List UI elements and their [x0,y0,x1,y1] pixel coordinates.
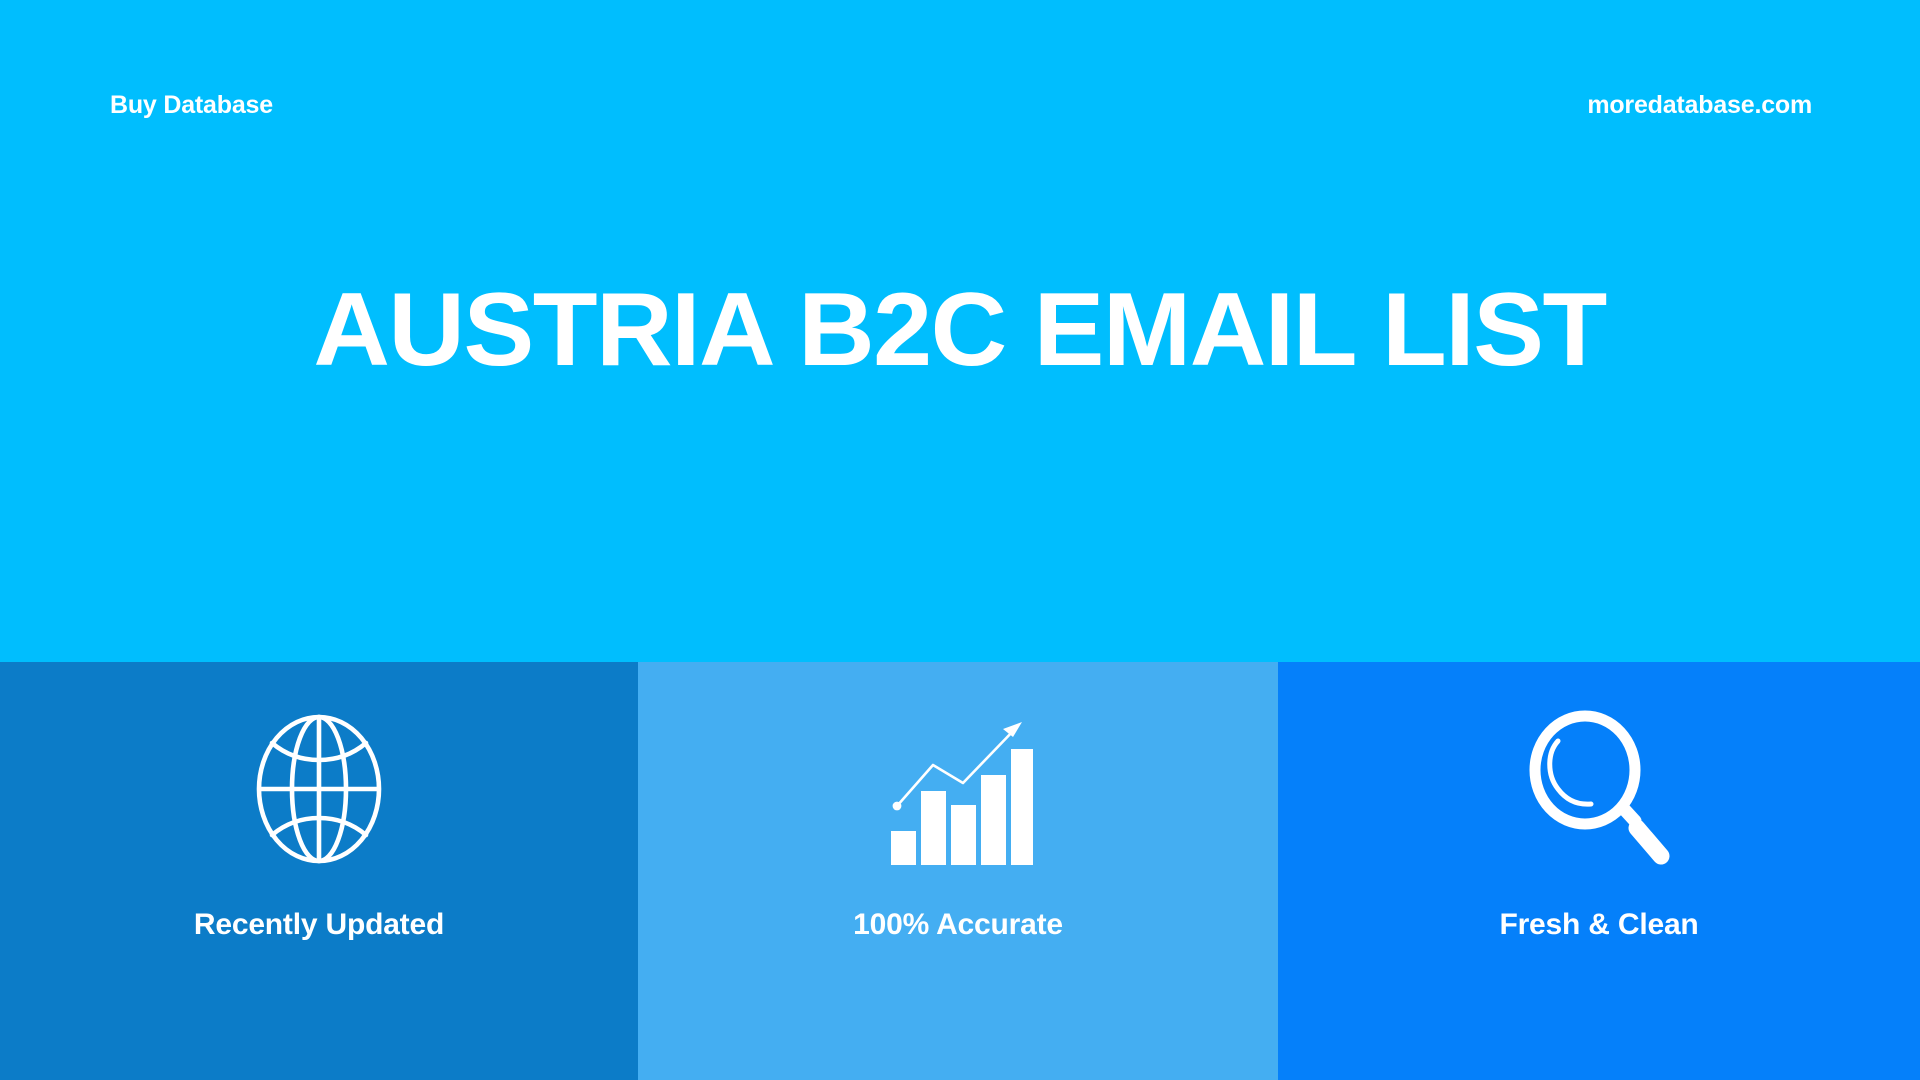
hero-section: Buy Database moredatabase.com AUSTRIA B2… [0,0,1920,662]
globe-icon [244,714,394,864]
feature-strip: Recently Updated [0,662,1920,1080]
feature-card-recently-updated: Recently Updated [0,662,638,1080]
feature-card-fresh-clean: Fresh & Clean [1278,662,1920,1080]
page-title: AUSTRIA B2C EMAIL LIST [314,276,1606,385]
feature-label: Fresh & Clean [1499,908,1698,942]
feature-label: 100% Accurate [853,908,1063,942]
bar-chart-growth-icon [883,714,1033,864]
feature-card-accurate: 100% Accurate [638,662,1278,1080]
magnifier-icon [1524,714,1674,864]
feature-label: Recently Updated [194,908,444,942]
email-list-banner: Buy Database moredatabase.com AUSTRIA B2… [0,0,1920,1080]
hero-title-container: AUSTRIA B2C EMAIL LIST [0,0,1920,662]
